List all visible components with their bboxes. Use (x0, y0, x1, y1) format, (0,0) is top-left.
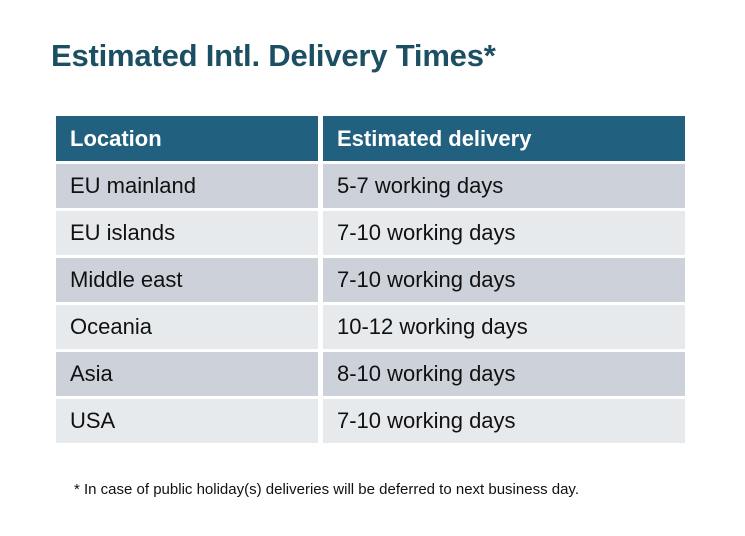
cell-estimate: 10-12 working days (323, 305, 685, 349)
table-header-row: Location Estimated delivery (56, 116, 685, 161)
table-body: EU mainland 5-7 working days EU islands … (56, 164, 685, 443)
column-header-location: Location (56, 116, 318, 161)
table-row: EU islands 7-10 working days (56, 211, 685, 255)
table-row: Asia 8-10 working days (56, 352, 685, 396)
table-header: Location Estimated delivery (56, 116, 685, 161)
cell-location: Middle east (56, 258, 318, 302)
table-row: USA 7-10 working days (56, 399, 685, 443)
table-row: EU mainland 5-7 working days (56, 164, 685, 208)
cell-location: EU mainland (56, 164, 318, 208)
table-row: Oceania 10-12 working days (56, 305, 685, 349)
cell-estimate: 8-10 working days (323, 352, 685, 396)
delivery-times-table: Location Estimated delivery EU mainland … (51, 113, 690, 446)
footnote: * In case of public holiday(s) deliverie… (74, 481, 579, 498)
cell-estimate: 7-10 working days (323, 399, 685, 443)
page-title: Estimated Intl. Delivery Times* (51, 38, 496, 74)
cell-location: USA (56, 399, 318, 443)
cell-location: EU islands (56, 211, 318, 255)
table-row: Middle east 7-10 working days (56, 258, 685, 302)
cell-location: Oceania (56, 305, 318, 349)
cell-estimate: 5-7 working days (323, 164, 685, 208)
cell-location: Asia (56, 352, 318, 396)
delivery-times-page: Estimated Intl. Delivery Times* Location… (0, 0, 745, 536)
column-header-estimated-delivery: Estimated delivery (323, 116, 685, 161)
cell-estimate: 7-10 working days (323, 211, 685, 255)
cell-estimate: 7-10 working days (323, 258, 685, 302)
